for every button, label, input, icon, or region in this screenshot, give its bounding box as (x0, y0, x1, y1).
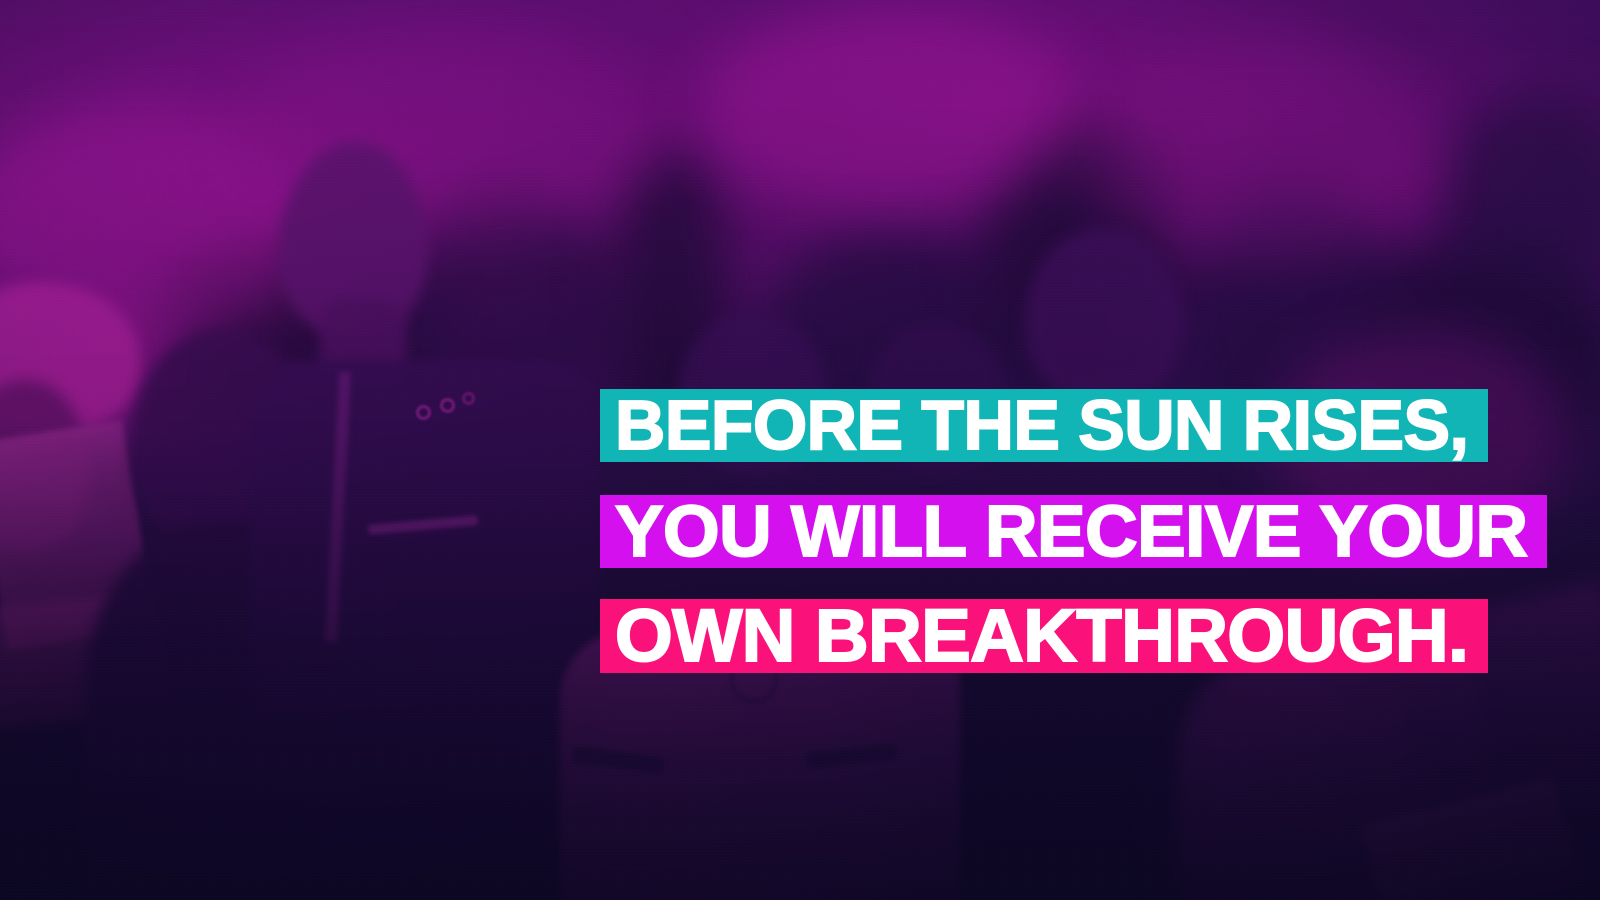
headline-line-2: YOU WILL RECEIVE YOUR (600, 495, 1547, 568)
poster-canvas: BEFORE THE SUN RISES, YOU WILL RECEIVE Y… (0, 0, 1600, 900)
headline-line-1: BEFORE THE SUN RISES, (600, 389, 1488, 462)
headline-block: BEFORE THE SUN RISES, YOU WILL RECEIVE Y… (600, 389, 1547, 673)
headline-line-3: OWN BREAKTHROUGH. (600, 599, 1488, 673)
